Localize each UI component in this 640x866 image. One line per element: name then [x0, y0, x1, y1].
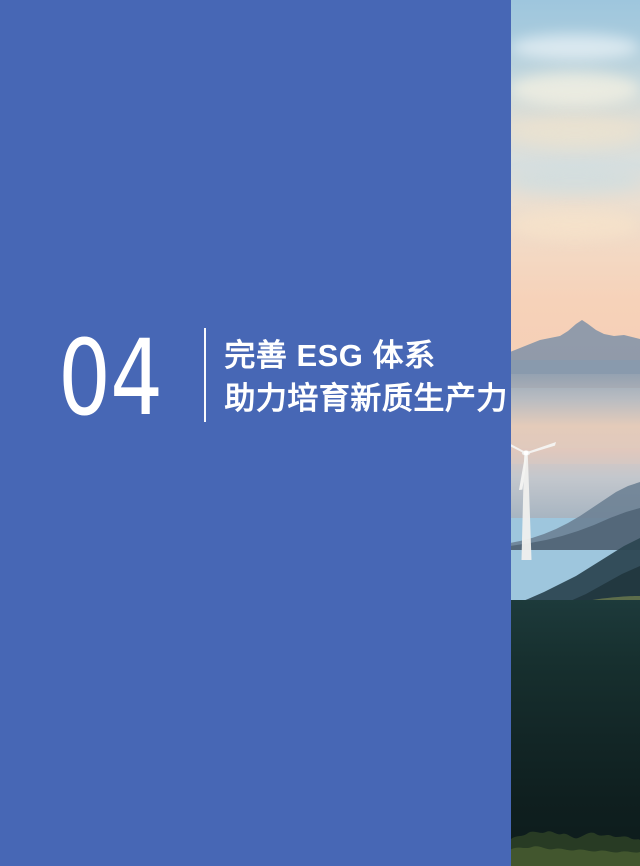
cloud-band: [510, 34, 640, 60]
section-title-block: 04 完善 ESG 体系 助力培育新质生产力: [58, 322, 488, 430]
sky-gradient: [510, 0, 640, 360]
cloud-band: [510, 168, 640, 194]
vertical-divider-rule: [204, 328, 206, 422]
section-divider-slide: 04 完善 ESG 体系 助力培育新质生产力: [0, 0, 640, 866]
cloud-band: [510, 72, 640, 106]
wind-turbine-icon: [510, 432, 640, 572]
panel-photo-seam: [508, 0, 511, 866]
treetops: [510, 800, 640, 866]
section-title-lines: 完善 ESG 体系 助力培育新质生产力: [224, 322, 508, 430]
section-title-line-2: 助力培育新质生产力: [224, 377, 508, 420]
section-number: 04: [58, 326, 162, 430]
photo-strip: [510, 0, 640, 866]
section-title-line-1: 完善 ESG 体系: [224, 334, 508, 377]
cloud-band: [510, 118, 640, 148]
cloud-band: [510, 210, 640, 240]
